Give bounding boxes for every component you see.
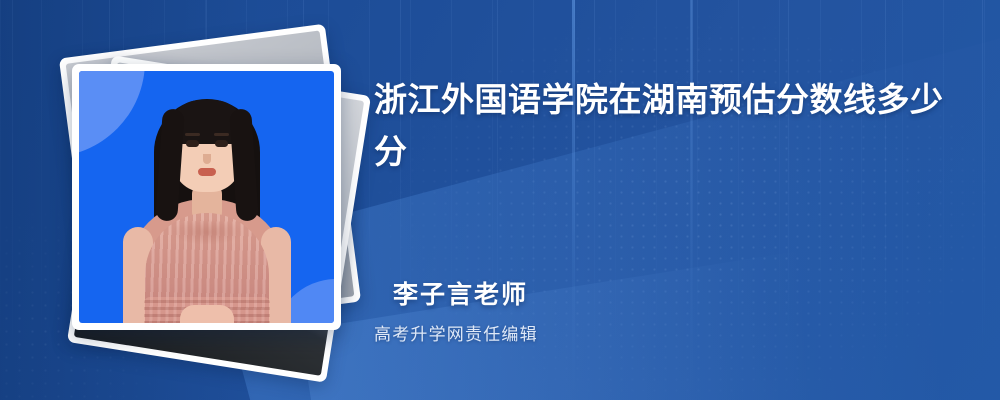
- author-name: 李子言老师: [393, 275, 528, 311]
- portrait-nose: [203, 154, 211, 164]
- portrait-photo: [79, 71, 334, 323]
- banner-text-block: 浙江外国语学院在湖南预估分数线多少分 李子言老师 高考升学网责任编辑: [374, 0, 974, 400]
- article-headline: 浙江外国语学院在湖南预估分数线多少分: [374, 74, 954, 178]
- portrait-figure: [79, 71, 334, 323]
- portrait-hands: [180, 305, 234, 323]
- portrait-eye-left: [186, 140, 199, 147]
- article-cover-banner: 浙江外国语学院在湖南预估分数线多少分 李子言老师 高考升学网责任编辑: [0, 0, 1000, 400]
- portrait-eyebrow-left: [185, 133, 200, 136]
- photo-card-stack: [48, 22, 358, 367]
- front-portrait-card: [72, 64, 341, 330]
- portrait-chest-shadow: [170, 219, 244, 245]
- portrait-mouth: [198, 168, 216, 176]
- author-role: 高考升学网责任编辑: [374, 320, 538, 345]
- portrait-eyebrow-right: [214, 133, 229, 136]
- portrait-eye-right: [215, 140, 228, 147]
